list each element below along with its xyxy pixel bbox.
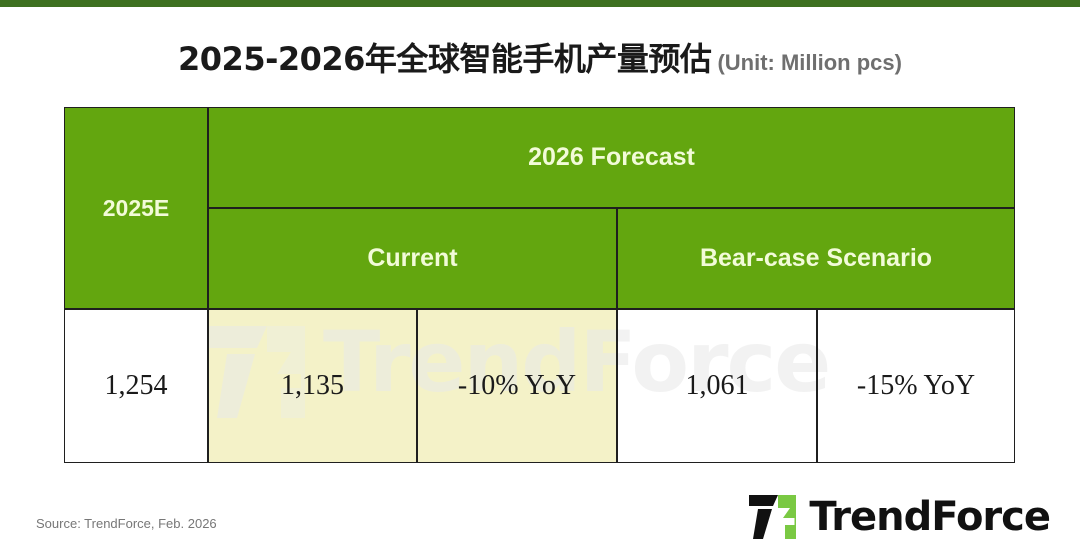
header-cell-2025e: 2025E <box>65 108 207 308</box>
divider-current-value-yoy <box>416 308 418 463</box>
cell-value-current: 1,135 <box>209 310 417 463</box>
title-unit-text: (Unit: Million pcs) <box>717 50 902 75</box>
header-cell-2026-forecast: 2026 Forecast <box>209 108 1015 207</box>
trendforce-logo: TrendForce <box>745 492 1050 542</box>
divider-header-data <box>65 308 1015 310</box>
cell-value-current-yoy: -10% YoY <box>418 310 617 463</box>
divider-bear-value-yoy <box>816 308 818 463</box>
divider-current-bear <box>616 207 618 463</box>
divider-forecast-group <box>207 207 1015 209</box>
divider-col-2025e <box>207 108 209 463</box>
logo-wordmark-text: TrendForce <box>809 497 1050 537</box>
logo-mark-icon <box>745 494 799 540</box>
cell-value-bear-case: 1,061 <box>618 310 817 463</box>
forecast-table: TrendForce 2025E 2026 Forecast Current B… <box>64 107 1015 463</box>
title-main-text: 2025-2026年全球智能手机产量预估 <box>178 40 711 78</box>
header-cell-current: Current <box>209 209 617 309</box>
cell-value-bear-case-yoy: -15% YoY <box>818 310 1015 463</box>
header-cell-bear-case: Bear-case Scenario <box>618 209 1015 309</box>
cell-value-2025e: 1,254 <box>65 310 207 463</box>
table-grid: 2025E 2026 Forecast Current Bear-case Sc… <box>65 108 1014 462</box>
source-note: Source: TrendForce, Feb. 2026 <box>36 516 217 531</box>
page-title: 2025-2026年全球智能手机产量预估(Unit: Million pcs) <box>0 34 1080 80</box>
top-accent-bar <box>0 0 1080 7</box>
